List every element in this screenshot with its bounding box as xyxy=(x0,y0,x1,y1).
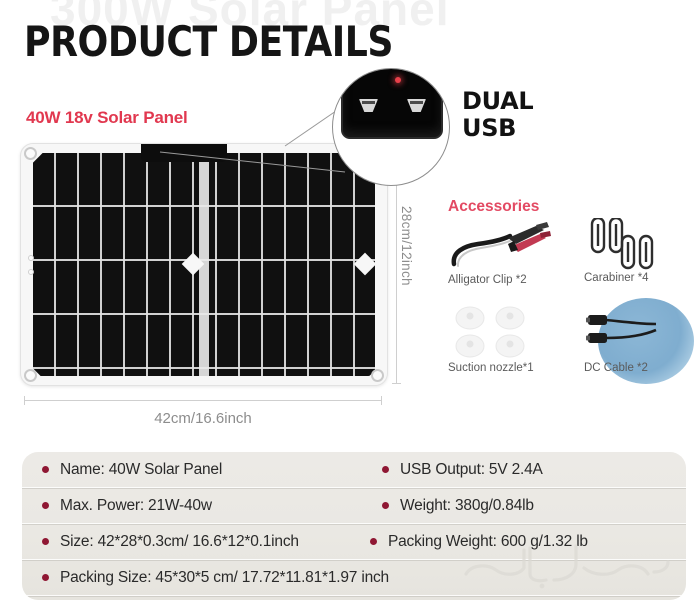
usb-port-right xyxy=(407,99,426,112)
usb-port-left xyxy=(359,99,378,112)
product-details-page: 300W Solar Panel PRODUCT DETAILS 40W 18v… xyxy=(0,0,700,615)
usb-closeup-magnifier xyxy=(332,68,450,186)
charging-led-indicator xyxy=(395,77,401,83)
magnified-junction-box xyxy=(341,68,443,139)
